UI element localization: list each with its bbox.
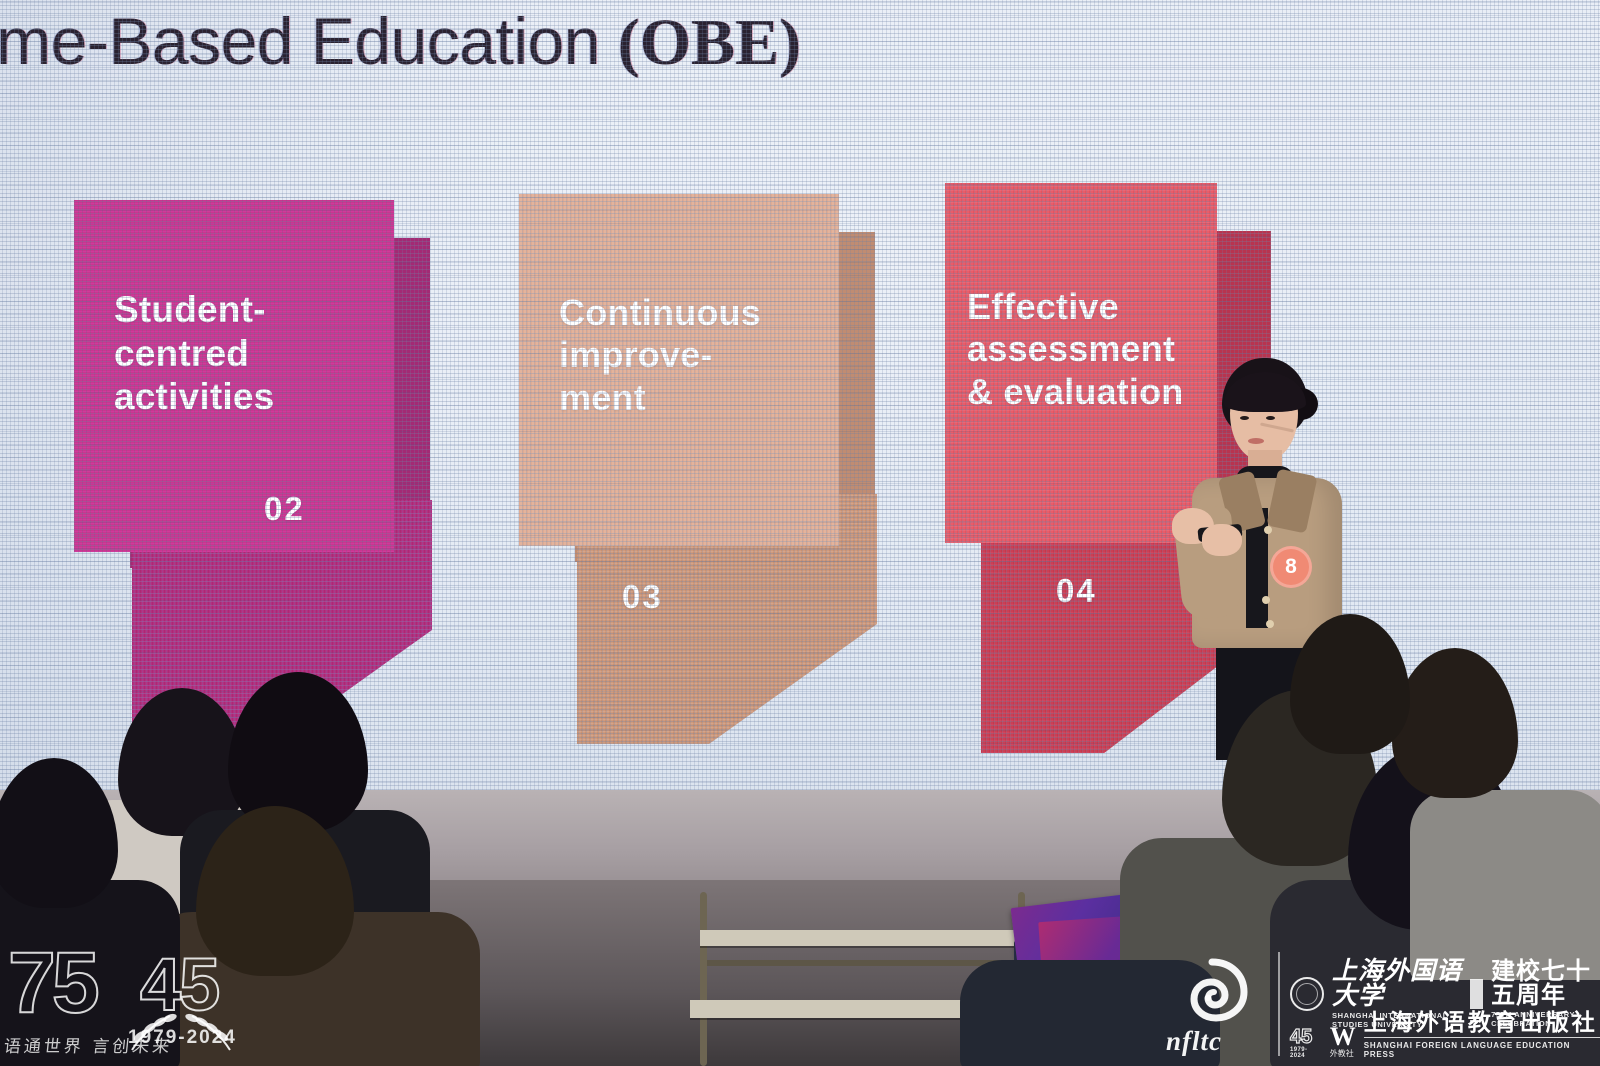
presenter-eye bbox=[1266, 416, 1275, 420]
card-label-line: activities bbox=[114, 375, 379, 419]
anniversary-name-cn: 建校七十五周年 bbox=[1491, 959, 1600, 1007]
conference-photo: ome-Based Education (OBE) Student- centr… bbox=[0, 0, 1600, 1066]
presenter-badge-number: 8 bbox=[1270, 546, 1312, 588]
press-name-cn: 上海外语教育出版社 bbox=[1364, 1012, 1600, 1038]
laurel-wreath-icon bbox=[116, 958, 246, 1054]
university-seal-icon bbox=[1290, 977, 1324, 1011]
press-logo-row: 45 1979-2024 W 外教社 上海外语教育出版社 SHANGHAI FO… bbox=[1290, 1012, 1600, 1059]
mini-45-logo: 45 bbox=[1290, 1027, 1322, 1047]
card-label-line: Continuous bbox=[559, 292, 824, 334]
card-label-line: Student- bbox=[114, 288, 379, 332]
presenter-mouth bbox=[1248, 438, 1264, 444]
press-name-en: SHANGHAI FOREIGN LANGUAGE EDUCATION PRES… bbox=[1364, 1041, 1600, 1059]
jacket-button bbox=[1266, 620, 1274, 628]
jacket-button bbox=[1262, 596, 1270, 604]
presenter-eye bbox=[1240, 416, 1249, 420]
card-label-line: Effective bbox=[967, 286, 1247, 328]
card-label-line: ment bbox=[559, 377, 824, 419]
jacket-button bbox=[1264, 526, 1272, 534]
card-number: 03 bbox=[622, 578, 663, 616]
sponsor-logo-block: nfltc 上海外国语大学 SHANGHAI INTERNATIONAL STU… bbox=[1162, 946, 1600, 1062]
card-label: Student- centred activities bbox=[114, 288, 379, 419]
separator-bar-icon bbox=[1470, 979, 1483, 1009]
card-number: 02 bbox=[264, 490, 305, 528]
logo-divider bbox=[1278, 952, 1280, 1056]
press-logo-cn: 外教社 bbox=[1330, 1048, 1356, 1059]
stair-rail-left bbox=[700, 892, 707, 1066]
stage-step bbox=[700, 930, 1060, 946]
presenter-number-badge: 8 bbox=[1270, 546, 1312, 588]
presenter-hand bbox=[1202, 524, 1242, 556]
card-label: Continuous improve- ment bbox=[559, 292, 824, 419]
university-name-cn: 上海外国语大学 bbox=[1332, 958, 1462, 1008]
stair-rail-bar bbox=[700, 960, 1020, 966]
card-label-line: improve- bbox=[559, 334, 824, 376]
swirl-icon bbox=[1174, 956, 1250, 1026]
mini-45-years: 1979-2024 bbox=[1290, 1047, 1322, 1059]
card-number: 04 bbox=[1056, 572, 1097, 610]
nfltc-logo: nfltc bbox=[1162, 954, 1270, 1054]
press-logo-icon: W bbox=[1330, 1025, 1356, 1048]
card-label-line: centred bbox=[114, 332, 379, 376]
nfltc-wordmark: nfltc bbox=[1166, 1026, 1222, 1057]
